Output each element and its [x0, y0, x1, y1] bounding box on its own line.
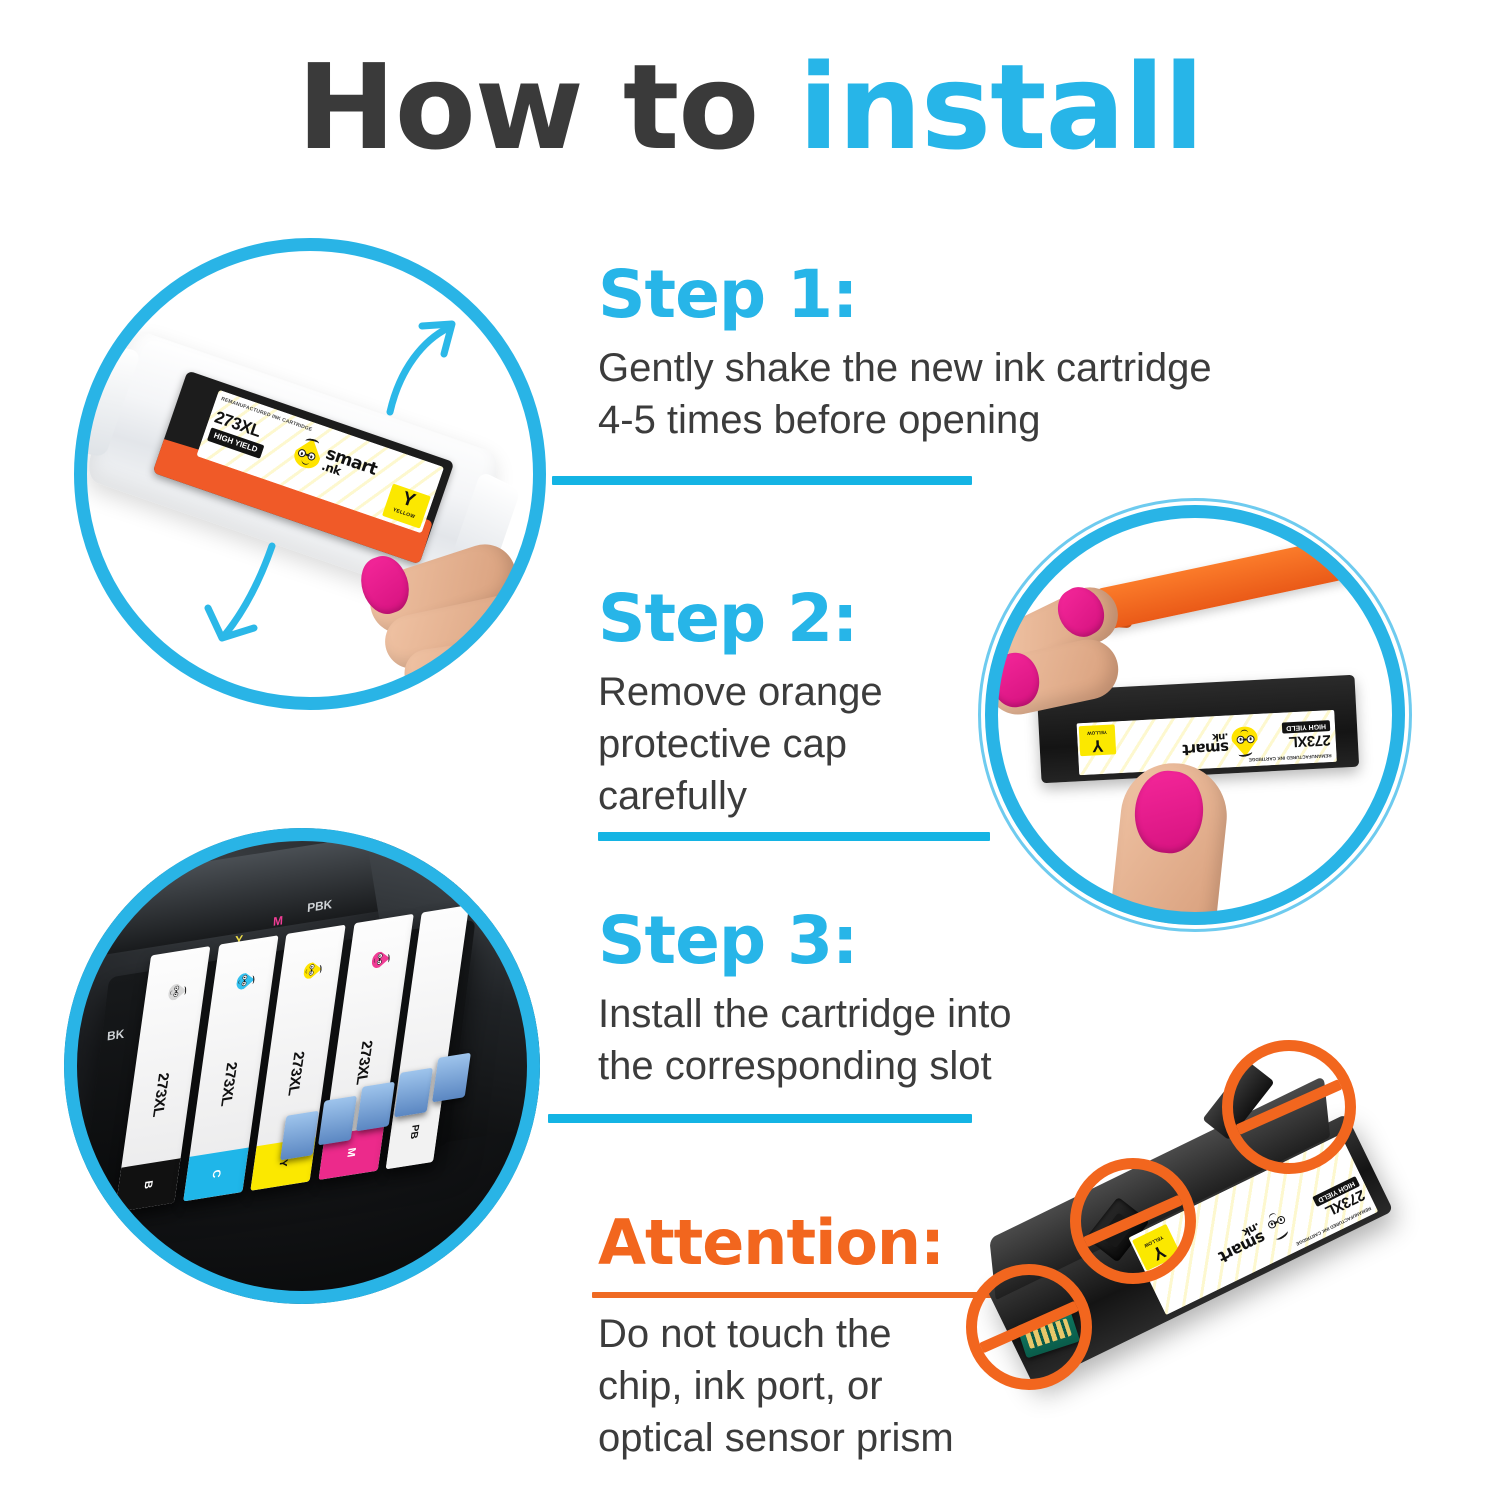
shake-arrow-down-icon [202, 538, 292, 648]
cartridge-slot-row: 273XL B 273XL [115, 902, 490, 1212]
installed-cartridge-code: B [141, 1180, 154, 1190]
installed-cartridge-code: Y [276, 1159, 289, 1168]
installed-cartridge-tab: B [115, 1158, 180, 1211]
brand-lockup: smart .nk [1211, 1205, 1295, 1266]
color-tab-yellow: Y YELLOW [1079, 724, 1117, 756]
installed-cartridge-code: PB [407, 1123, 420, 1139]
no-touch-icon-chip [966, 1264, 1092, 1390]
photo-step-1: REMANUFACTURED INK CARTRIDGE 273XL HIGH … [74, 238, 546, 710]
step-2-block: Step 2: Remove orange protective cap car… [598, 586, 883, 822]
installed-cartridge-sku: 273XL [149, 1071, 172, 1117]
installed-cartridge-sku: 273XL [216, 1060, 239, 1106]
photo-step-3-image: BK C Y M PBK 273XL [64, 828, 540, 1304]
brand-lockup: smart .nk [291, 435, 379, 490]
step-1-heading: Step 1: [598, 262, 1212, 328]
slot-label-bk: BK [107, 1026, 125, 1043]
ink-drop-mascot-icon [223, 965, 261, 997]
shake-arrow-up-icon [374, 316, 464, 416]
brand-lockup: smart .nk [1182, 726, 1259, 760]
ink-drop-mascot-icon [291, 954, 329, 986]
printer-carriage: BK C Y M PBK 273XL [64, 828, 540, 1304]
photo-step-2: REMANUFACTURED INK CARTRIDGE 273XL HIGH … [985, 505, 1405, 925]
brand-name: smart [1182, 739, 1229, 759]
photo-attention: REMANUFACTURED INK CARTRIDGE 273XL HIGH … [960, 1040, 1480, 1470]
ink-drop-mascot-icon [155, 975, 193, 1007]
step-3-heading: Step 3: [598, 908, 1012, 974]
page-title-accent: install [798, 38, 1203, 176]
infographic-canvas: How to install REMANUFACTURED INK CARTRI… [0, 0, 1500, 1500]
installed-cartridge-sku: 273XL [352, 1039, 375, 1085]
attention-heading: Attention: [598, 1212, 944, 1274]
label-fineprint: REMANUFACTURED INK CARTRIDGE [1249, 752, 1332, 762]
step-3-body: Install the cartridge into the correspon… [598, 988, 1012, 1092]
step-1-body: Gently shake the new ink cartridge 4-5 t… [598, 342, 1212, 446]
step-2-divider [598, 832, 990, 841]
step-2-heading: Step 2: [598, 586, 883, 652]
cartridge-warning-view: REMANUFACTURED INK CARTRIDGE 273XL HIGH … [944, 1028, 1435, 1473]
attention-block: Attention: [598, 1212, 944, 1274]
installed-cartridge-tab: C [182, 1148, 247, 1201]
brand-text: smart .nk [1212, 1220, 1267, 1264]
page-title-prefix: How to [297, 38, 758, 176]
no-touch-icon-ink-port [1070, 1158, 1196, 1284]
step-2-body: Remove orange protective cap carefully [598, 666, 883, 822]
step-3-block: Step 3: Install the cartridge into the c… [598, 908, 1012, 1092]
attention-body-block: Do not touch the chip, ink port, or opti… [598, 1308, 954, 1464]
brand-text: smart .nk [320, 446, 379, 488]
color-tab-code: Y [1079, 734, 1116, 756]
slot-label-m: M [273, 913, 284, 929]
photo-step-2-image: REMANUFACTURED INK CARTRIDGE 273XL HIGH … [985, 505, 1405, 925]
hand-holding-pouch [356, 514, 546, 704]
installed-cartridge-sku: 273XL [284, 1049, 307, 1095]
step-1-block: Step 1: Gently shake the new ink cartrid… [598, 262, 1212, 446]
step-1-divider [552, 476, 972, 485]
attention-body: Do not touch the chip, ink port, or opti… [598, 1308, 954, 1464]
brand-text: smart .nk [1182, 731, 1229, 756]
attention-divider [592, 1292, 1016, 1298]
step-3-divider [548, 1114, 972, 1123]
installed-cartridge-code: M [344, 1147, 357, 1158]
installed-cartridge-code: C [209, 1169, 222, 1179]
photo-step-3: BK C Y M PBK 273XL [64, 828, 540, 1304]
photo-step-1-image: REMANUFACTURED INK CARTRIDGE 273XL HIGH … [74, 238, 546, 710]
ink-drop-mascot-icon [291, 435, 325, 472]
label-sku: 273XL [1289, 731, 1332, 750]
no-touch-icon-prism [1222, 1040, 1356, 1174]
ink-drop-mascot-icon [359, 943, 397, 975]
page-title: How to install [0, 46, 1500, 170]
ink-drop-mascot-icon [1231, 726, 1259, 757]
